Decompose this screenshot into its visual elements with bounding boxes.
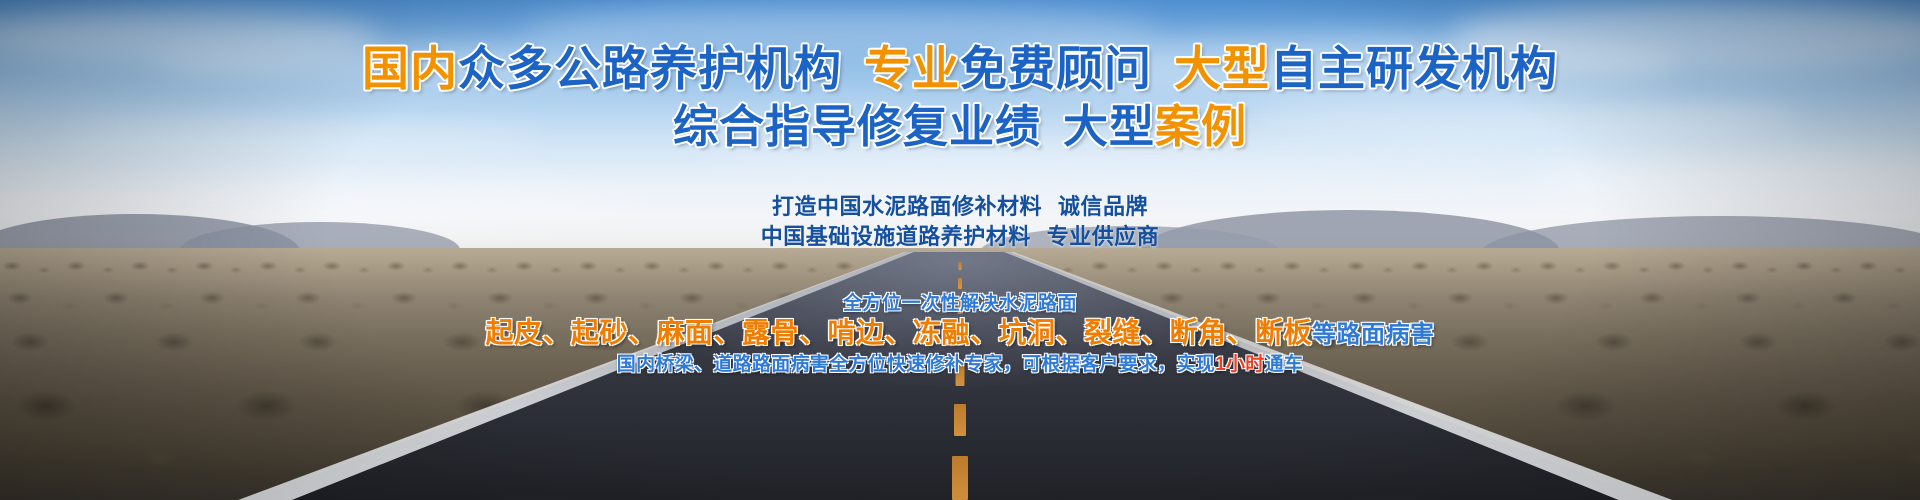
disease-list-tail: 等路面病害 bbox=[1312, 321, 1435, 348]
headline-seg-rnd: 自主研发机构 bbox=[1270, 42, 1558, 95]
expert-claim-prefix: 国内桥梁、道路路面病害全方位快速修补专家，可根据客户要求，实现 bbox=[617, 354, 1215, 375]
headline-seg-free-consult: 免费顾问 bbox=[960, 42, 1152, 95]
headline-seg-domestic: 国内 bbox=[362, 42, 458, 95]
bottom-line-expert: 国内桥梁、道路路面病害全方位快速修补专家，可根据客户要求，实现1小时通车 bbox=[0, 352, 1920, 378]
subtitle-repair-material: 打造中国水泥路面修补材料 bbox=[772, 194, 1042, 219]
subtitle-line-2: 中国基础设施道路养护材料专业供应商 bbox=[0, 222, 1920, 252]
subtitle-block: 打造中国水泥路面修补材料诚信品牌 中国基础设施道路养护材料专业供应商 bbox=[0, 192, 1920, 252]
subtitle-trusted-brand: 诚信品牌 bbox=[1058, 194, 1148, 219]
subtitle-infrastructure-material: 中国基础设施道路养护材料 bbox=[761, 224, 1031, 249]
subtitle-line-1: 打造中国水泥路面修补材料诚信品牌 bbox=[0, 192, 1920, 222]
banner-content: 国内众多公路养护机构专业免费顾问大型自主研发机构 综合指导修复业绩大型案例 打造… bbox=[0, 0, 1920, 500]
headline-seg-large-scale: 大型 bbox=[1174, 42, 1270, 95]
expert-claim-suffix: 通车 bbox=[1265, 354, 1304, 375]
headline-seg-large: 大型 bbox=[1063, 101, 1155, 152]
bottom-line-diseases: 起皮、起砂、麻面、露骨、啃边、冻融、坑洞、裂缝、断角、断板等路面病害 bbox=[0, 316, 1920, 352]
headline-seg-professional: 专业 bbox=[864, 42, 960, 95]
headline-line-2: 综合指导修复业绩大型案例 bbox=[0, 98, 1920, 156]
subtitle-supplier: 专业供应商 bbox=[1047, 224, 1160, 249]
headline-seg-guidance: 综合指导修复业绩 bbox=[673, 101, 1041, 152]
bottom-block: 全方位一次性解决水泥路面 起皮、起砂、麻面、露骨、啃边、冻融、坑洞、裂缝、断角、… bbox=[0, 292, 1920, 378]
disease-list: 起皮、起砂、麻面、露骨、啃边、冻融、坑洞、裂缝、断角、断板 bbox=[485, 317, 1312, 348]
bottom-line-solution: 全方位一次性解决水泥路面 bbox=[0, 292, 1920, 316]
headline-seg-cases: 案例 bbox=[1155, 101, 1247, 152]
headline-line-1: 国内众多公路养护机构专业免费顾问大型自主研发机构 bbox=[0, 40, 1920, 98]
one-hour-highlight: 1小时 bbox=[1215, 354, 1264, 375]
headline-seg-agencies: 众多公路养护机构 bbox=[458, 42, 842, 95]
headline-block: 国内众多公路养护机构专业免费顾问大型自主研发机构 综合指导修复业绩大型案例 bbox=[0, 40, 1920, 156]
promo-banner: 国内众多公路养护机构专业免费顾问大型自主研发机构 综合指导修复业绩大型案例 打造… bbox=[0, 0, 1920, 500]
